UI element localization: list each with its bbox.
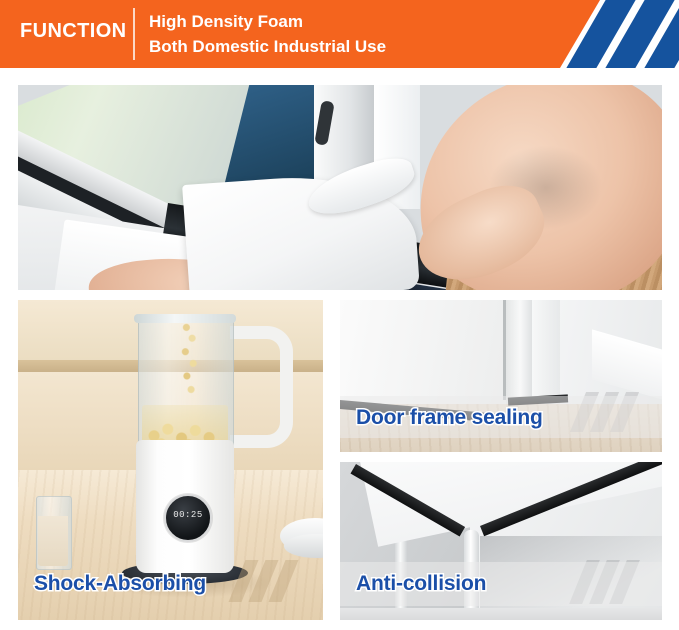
header-tagline-line1: High Density Foam <box>149 9 386 34</box>
caption-shock-absorbing: Shock-Absorbing <box>34 572 206 596</box>
header-divider <box>133 8 135 60</box>
caption-anti-collision: Anti-collision <box>356 572 486 596</box>
shock-display-timer: 00:25 <box>166 510 210 520</box>
shock-appliance-display: 00:25 <box>164 494 212 542</box>
door-jamb-back <box>532 300 560 410</box>
header-tagline: High Density Foam Both Domestic Industri… <box>149 9 386 59</box>
panel-door-frame-sealing: Door frame sealing <box>340 300 662 452</box>
shock-pouring-beans <box>176 322 202 412</box>
shock-jar-handle <box>230 326 293 448</box>
panel-anti-collision: Anti-collision <box>340 462 662 620</box>
panel-shock-absorbing: 00:25 Shock-Absorbing <box>18 300 323 620</box>
header-tagline-line2: Both Domestic Industrial Use <box>149 34 386 59</box>
panel-window-sealing: Window sealing <box>18 85 662 290</box>
anti-floor <box>340 608 662 620</box>
door-jamb-front <box>506 300 532 404</box>
header-function-label: FUNCTION <box>20 20 127 43</box>
function-header-banner: FUNCTION High Density Foam Both Domestic… <box>0 0 679 68</box>
caption-door-frame-sealing: Door frame sealing <box>356 406 543 430</box>
shock-soy-milk <box>38 516 68 566</box>
